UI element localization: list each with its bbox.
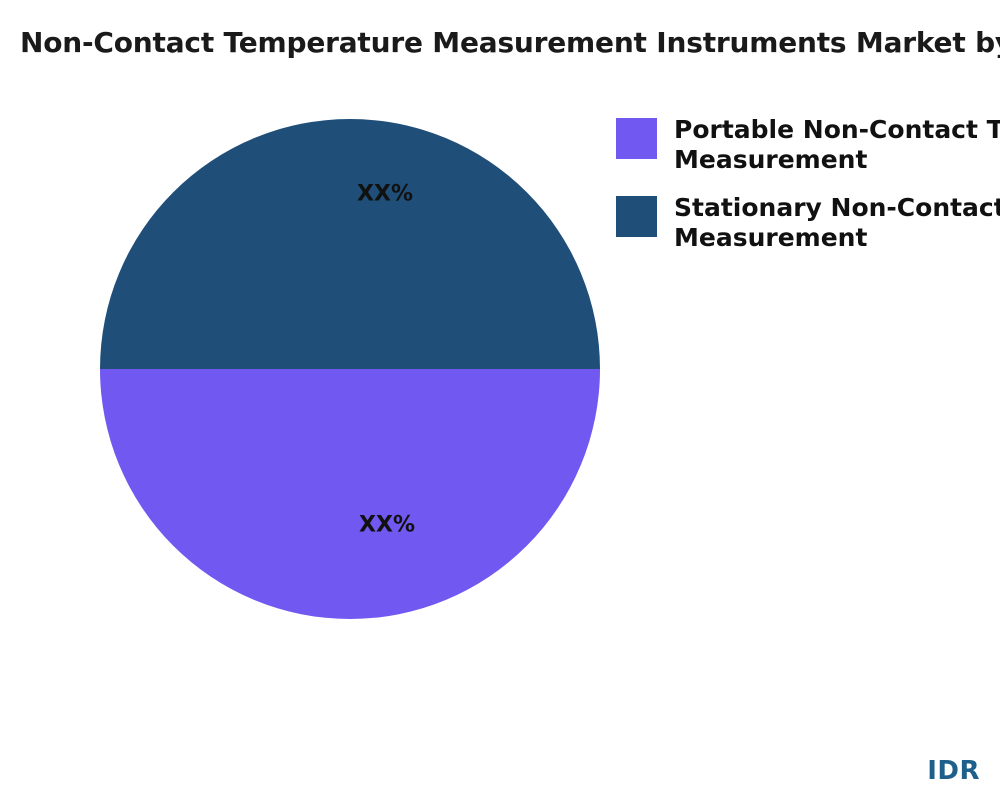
- pie-graphic: [100, 119, 600, 619]
- legend-item-portable: Portable Non-Contact Temperature Measure…: [616, 118, 1000, 174]
- legend: Portable Non-Contact Temperature Measure…: [616, 118, 1000, 274]
- legend-label-stationary-line1: Stationary Non-Contact Temperature: [674, 193, 1000, 223]
- legend-item-stationary: Stationary Non-Contact Temperature Measu…: [616, 196, 1000, 252]
- legend-label-stationary-line2: Measurement: [674, 223, 1000, 253]
- legend-label-portable: Portable Non-Contact Temperature Measure…: [674, 115, 1000, 174]
- pie-slice-label-portable: XX%: [359, 513, 415, 538]
- legend-swatch-stationary: [616, 196, 657, 237]
- pie-slice-label-stationary: XX%: [357, 182, 413, 207]
- legend-label-portable-line1: Portable Non-Contact Temperature: [674, 115, 1000, 145]
- page-title: Non-Contact Temperature Measurement Inst…: [20, 26, 1000, 59]
- legend-swatch-portable: [616, 118, 657, 159]
- pie-chart: XX% XX%: [100, 119, 600, 619]
- legend-label-portable-line2: Measurement: [674, 145, 1000, 175]
- watermark-logo: IDR: [927, 756, 980, 786]
- legend-label-stationary: Stationary Non-Contact Temperature Measu…: [674, 193, 1000, 252]
